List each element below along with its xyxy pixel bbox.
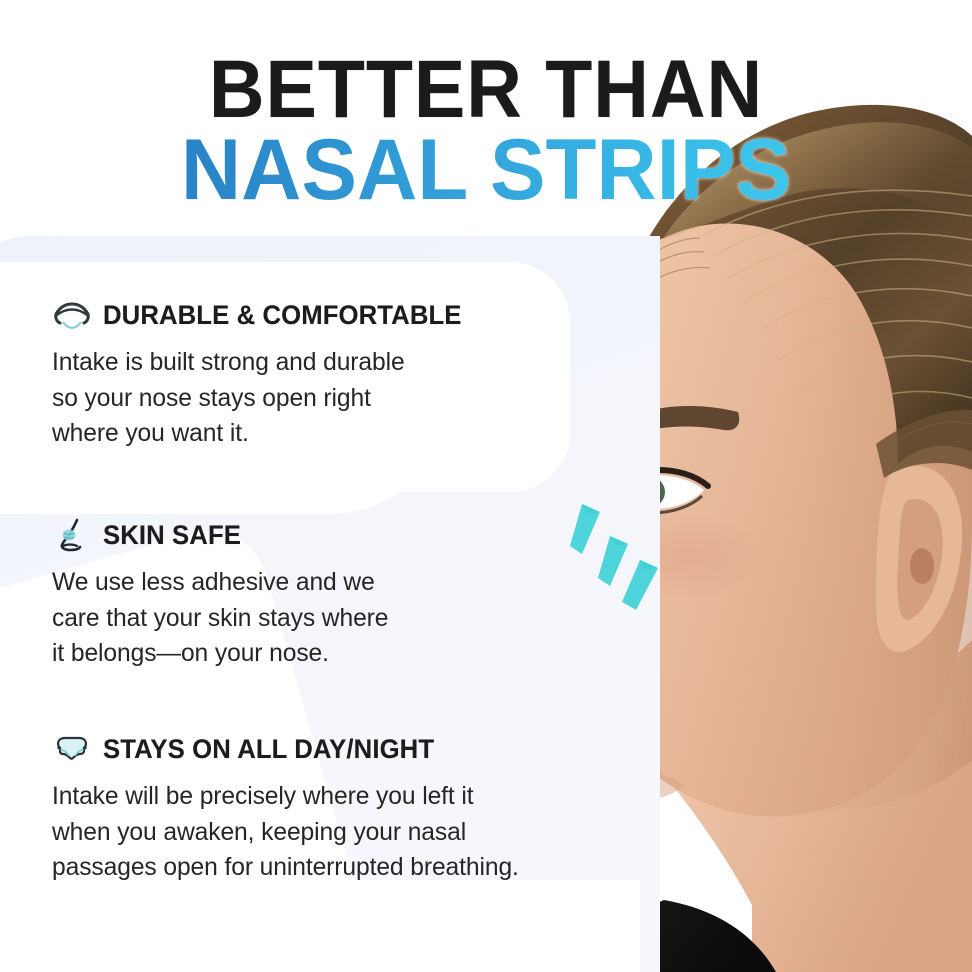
- feature-block-stays-on: STAYS ON ALL DAY/NIGHT Intake will be pr…: [52, 732, 632, 886]
- nose-profile-icon: [52, 518, 92, 552]
- feature-title: SKIN SAFE: [103, 520, 241, 551]
- nasal-dilator-glyph: [52, 298, 92, 332]
- feature-body: Intake will be precisely where you left …: [52, 779, 623, 886]
- nasal-dilator-icon: [52, 298, 92, 332]
- headline-line-1: BETTER THAN: [29, 52, 943, 127]
- feature-heading-row: SKIN SAFE: [52, 518, 482, 552]
- headline-block: BETTER THAN NASAL STRIPS: [0, 52, 972, 211]
- nose-profile-glyph: [52, 518, 92, 552]
- feature-body-line: Intake is built strong and durable: [52, 345, 564, 381]
- feature-heading-row: STAYS ON ALL DAY/NIGHT: [52, 732, 632, 766]
- nasal-strip-glyph: [52, 732, 92, 766]
- feature-heading-row: DURABLE & COMFORTABLE: [52, 298, 572, 332]
- feature-block-durable: DURABLE & COMFORTABLE Intake is built st…: [52, 298, 572, 452]
- feature-body-line: where you want it.: [52, 416, 564, 452]
- infographic-canvas: BETTER THAN NASAL STRIPS DURABLE & COMFO…: [0, 0, 972, 972]
- feature-body-line: passages open for uninterrupted breathin…: [52, 850, 623, 886]
- feature-body-line: We use less adhesive and we: [52, 565, 476, 601]
- feature-body: Intake is built strong and durable so yo…: [52, 345, 564, 452]
- feature-block-skin-safe: SKIN SAFE We use less adhesive and we ca…: [52, 518, 482, 672]
- feature-body-line: it belongs—on your nose.: [52, 636, 476, 672]
- feature-title: DURABLE & COMFORTABLE: [103, 300, 462, 331]
- feature-body: We use less adhesive and we care that yo…: [52, 565, 476, 672]
- feature-body-line: care that your skin stays where: [52, 601, 476, 637]
- feature-body-line: when you awaken, keeping your nasal: [52, 815, 623, 851]
- nasal-strip-icon: [52, 732, 92, 766]
- feature-body-line: Intake will be precisely where you left …: [52, 779, 623, 815]
- feature-body-line: so your nose stays open right: [52, 381, 564, 417]
- headline-line-2: NASAL STRIPS: [15, 131, 958, 210]
- feature-title: STAYS ON ALL DAY/NIGHT: [103, 734, 434, 765]
